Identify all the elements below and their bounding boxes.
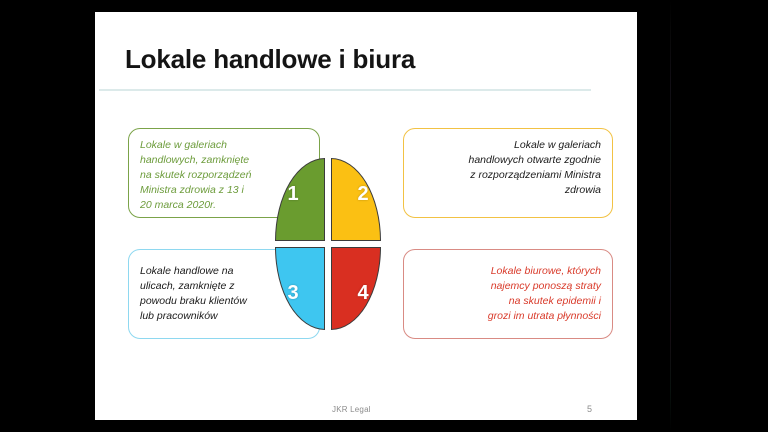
- callout-box-4: Lokale biurowe, których najemcy ponoszą …: [403, 249, 613, 339]
- callout-2-line-2: handlowych otwarte zgodnie: [415, 153, 601, 168]
- callout-4-line-4: grozi im utrata płynności: [415, 309, 601, 324]
- screen-root: Lokale handlowe i biura Lokale w galeria…: [0, 0, 768, 432]
- footer-page-number: 5: [587, 404, 592, 414]
- title-divider: [99, 89, 591, 91]
- footer-brand: JKR Legal: [332, 405, 371, 414]
- callout-2-line-1: Lokale w galeriach: [415, 138, 601, 153]
- quadrant-3: 3: [275, 247, 325, 330]
- quadrant-4: 4: [331, 247, 381, 330]
- quadrant-circle-diagram: 1 2 3 4: [275, 158, 381, 330]
- callout-4-line-1: Lokale biurowe, których: [415, 264, 601, 279]
- page-title: Lokale handlowe i biura: [125, 44, 415, 75]
- presentation-slide: Lokale handlowe i biura Lokale w galeria…: [95, 12, 637, 420]
- quadrant-2: 2: [331, 158, 381, 241]
- callout-1-line-1: Lokale w galeriach: [140, 138, 308, 153]
- quadrant-1: 1: [275, 158, 325, 241]
- callout-4-line-3: na skutek epidemii i: [415, 294, 601, 309]
- render-artifact-line: [670, 0, 671, 432]
- callout-box-2: Lokale w galeriach handlowych otwarte zg…: [403, 128, 613, 218]
- callout-4-line-2: najemcy ponoszą straty: [415, 279, 601, 294]
- callout-2-line-4: zdrowia: [415, 183, 601, 198]
- callout-2-line-3: z rozporządzeniami Ministra: [415, 168, 601, 183]
